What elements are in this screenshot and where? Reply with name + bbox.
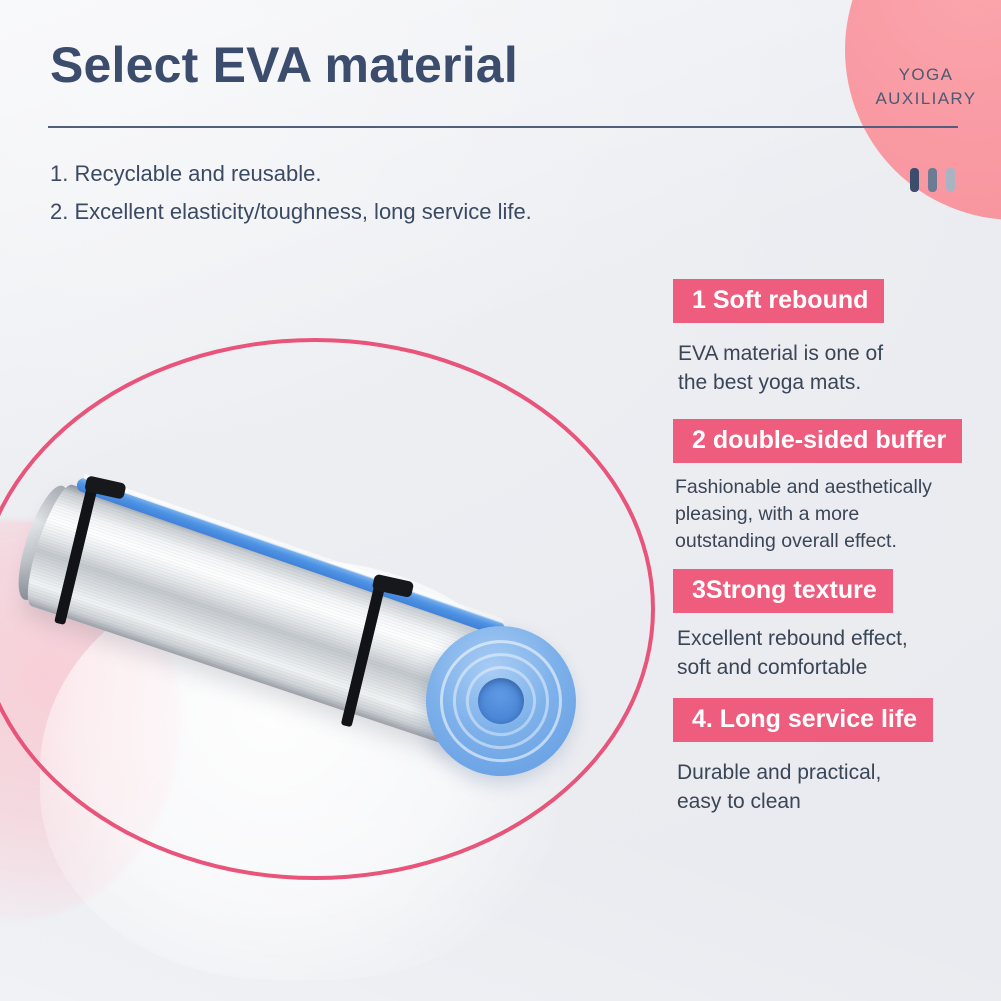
feature-desc-2: Fashionable and aesthetically pleasing, …: [675, 474, 1001, 555]
feature-desc-1-line-1: EVA material is one of: [678, 339, 1001, 368]
feature-desc-3-line-2: soft and comfortable: [677, 653, 1001, 682]
intro-bullet-2: 2. Excellent elasticity/toughness, long …: [50, 193, 532, 231]
feature-item-1: 1 Soft rebound EVA material is one of th…: [673, 279, 1001, 397]
brand-label: YOGA AUXILIARY: [860, 63, 992, 111]
feature-desc-4-line-2: easy to clean: [677, 787, 1001, 816]
feature-desc-1: EVA material is one of the best yoga mat…: [678, 339, 1001, 397]
feature-item-2: 2 double-sided buffer Fashionable and ae…: [673, 419, 1001, 555]
feature-badge-4: 4. Long service life: [673, 698, 933, 742]
title-divider: [48, 126, 958, 128]
intro-bullet-list: 1. Recyclable and reusable. 2. Excellent…: [50, 155, 532, 231]
feature-badge-2: 2 double-sided buffer: [673, 419, 962, 463]
brand-label-line2: AUXILIARY: [860, 87, 992, 111]
product-infographic: Select EVA material YOGA AUXILIARY 1. Re…: [0, 0, 1001, 1001]
feature-item-3: 3Strong texture Excellent rebound effect…: [673, 569, 1001, 682]
feature-desc-2-line-1: Fashionable and aesthetically: [675, 474, 1001, 501]
feature-badge-3: 3Strong texture: [673, 569, 893, 613]
feature-badge-1: 1 Soft rebound: [673, 279, 884, 323]
feature-item-4: 4. Long service life Durable and practic…: [673, 698, 1001, 816]
intro-bullet-1: 1. Recyclable and reusable.: [50, 155, 532, 193]
feature-desc-4-line-1: Durable and practical,: [677, 758, 1001, 787]
feature-desc-4: Durable and practical, easy to clean: [677, 758, 1001, 816]
brand-bars-decoration: [910, 168, 955, 192]
feature-desc-2-line-3: outstanding overall effect.: [675, 528, 1001, 555]
feature-list: 1 Soft rebound EVA material is one of th…: [673, 279, 1001, 832]
brand-label-line1: YOGA: [860, 63, 992, 87]
brand-bar-1: [910, 168, 919, 192]
feature-desc-3-line-1: Excellent rebound effect,: [677, 624, 1001, 653]
page-title: Select EVA material: [50, 36, 518, 94]
brand-bar-3: [946, 168, 955, 192]
feature-desc-2-line-2: pleasing, with a more: [675, 501, 1001, 528]
brand-bar-2: [928, 168, 937, 192]
feature-desc-3: Excellent rebound effect, soft and comfo…: [677, 624, 1001, 682]
feature-desc-1-line-2: the best yoga mats.: [678, 368, 1001, 397]
